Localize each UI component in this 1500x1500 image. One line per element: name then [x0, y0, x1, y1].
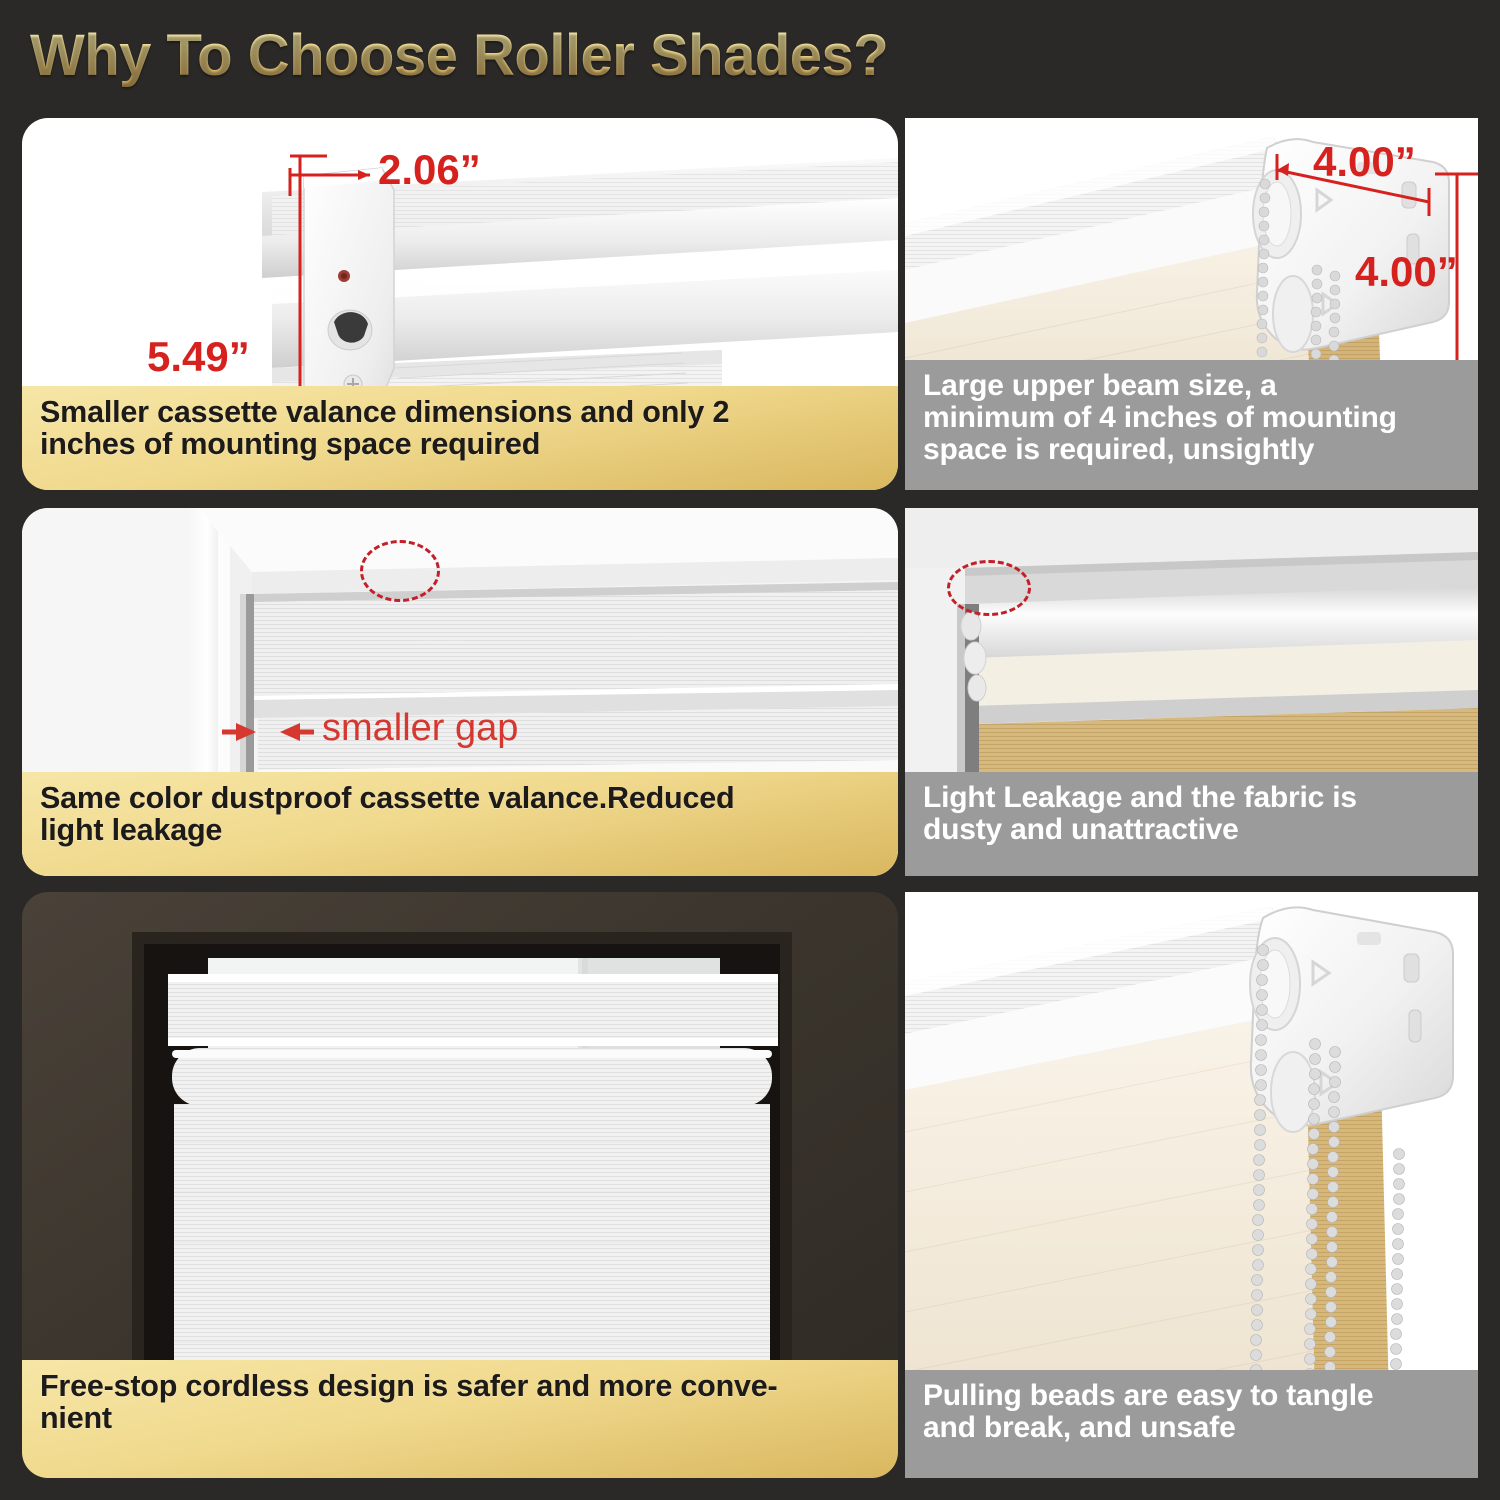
dimension-label-width-top-left: 2.06” [378, 146, 481, 194]
caption-line: Free-stop cordless design is safer and m… [40, 1370, 882, 1402]
caption-bottom-right: Pulling beads are easy to tangle and bre… [905, 1370, 1478, 1478]
caption-line: Light Leakage and the fabric is [923, 782, 1462, 814]
caption-mid-right: Light Leakage and the fabric is dusty an… [905, 772, 1478, 876]
caption-line: dusty and unattractive [923, 814, 1462, 846]
panel-bottom-left: Free-stop cordless design is safer and m… [22, 892, 898, 1478]
dimension-label-height-top-left: 5.49” [147, 333, 250, 381]
panel-top-left: 2.06” 5.49” Smaller cassette valance dim… [22, 118, 898, 490]
gap-label-mid-left: smaller gap [322, 707, 518, 750]
caption-line: and break, and unsafe [923, 1412, 1462, 1444]
caption-line: inches of mounting space required [40, 428, 882, 460]
caption-line: Smaller cassette valance dimensions and … [40, 396, 882, 428]
panel-mid-left: smaller gap Same color dustproof cassett… [22, 508, 898, 876]
dimension-label-height-top-right: 4.00” [1355, 248, 1458, 296]
panel-mid-right: Large gap Light Leakage and the fabric i… [905, 508, 1478, 876]
dimension-label-width-top-right: 4.00” [1313, 138, 1416, 186]
infographic-root: Why To Choose Roller Shades? [0, 0, 1500, 1500]
caption-bottom-left: Free-stop cordless design is safer and m… [22, 1360, 898, 1478]
caption-line: Large upper beam size, a [923, 370, 1462, 402]
caption-line: nient [40, 1402, 882, 1434]
panel-top-right: 4.00” 4.00” Large upper beam size, a min… [905, 118, 1478, 490]
caption-line: minimum of 4 inches of mounting [923, 402, 1462, 434]
caption-top-right: Large upper beam size, a minimum of 4 in… [905, 360, 1478, 490]
caption-line: Same color dustproof cassette valance.Re… [40, 782, 882, 814]
page-title: Why To Choose Roller Shades? [30, 22, 888, 89]
caption-line: Pulling beads are easy to tangle [923, 1380, 1462, 1412]
caption-line: light leakage [40, 814, 882, 846]
caption-top-left: Smaller cassette valance dimensions and … [22, 386, 898, 490]
caption-line: space is required, unsightly [923, 434, 1462, 466]
panel-bottom-right: Pulling beads are easy to tangle and bre… [905, 892, 1478, 1478]
caption-mid-left: Same color dustproof cassette valance.Re… [22, 772, 898, 876]
